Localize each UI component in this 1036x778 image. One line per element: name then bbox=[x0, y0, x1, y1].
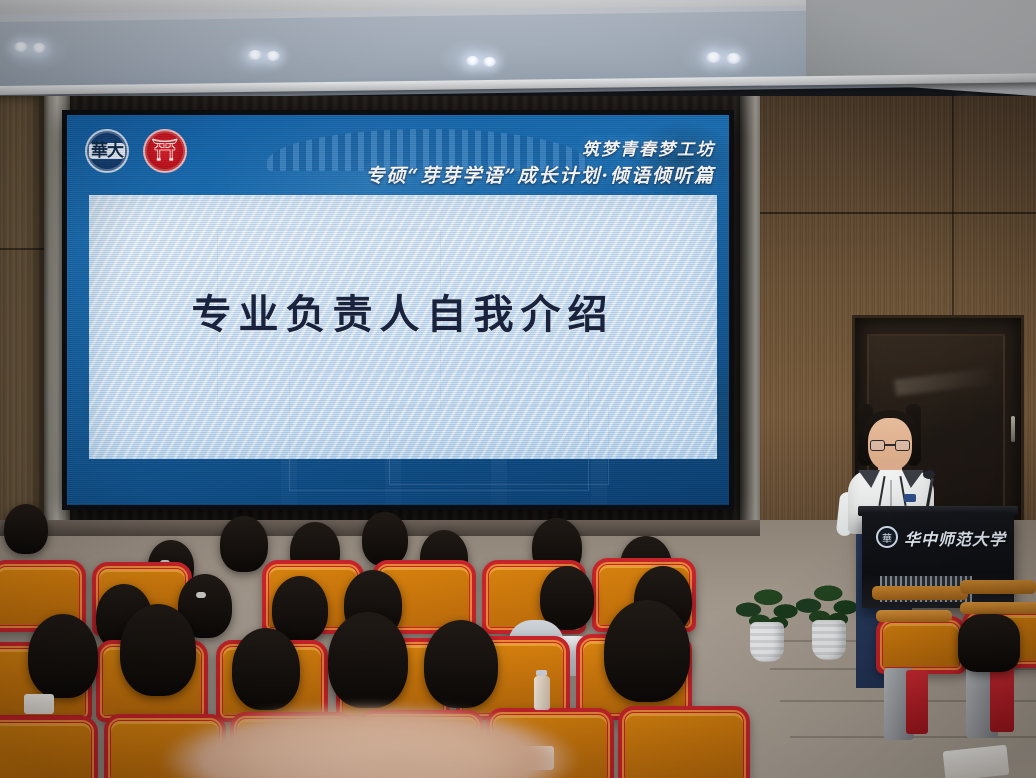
audience-head bbox=[28, 614, 98, 698]
audience-head bbox=[540, 566, 594, 630]
hair-clip bbox=[196, 592, 206, 598]
seat-side-panel bbox=[906, 670, 928, 734]
slide-content-panel: 专业负责人自我介绍 bbox=[89, 195, 717, 459]
wood-panel-seam bbox=[952, 96, 954, 316]
glasses-bridge bbox=[885, 444, 895, 446]
red-logo-glyph: ⛩ bbox=[151, 140, 179, 162]
auditorium-seat[interactable] bbox=[876, 616, 966, 674]
tissue-pack bbox=[943, 745, 1010, 778]
audience-head bbox=[604, 600, 690, 702]
water-bottle[interactable] bbox=[534, 676, 550, 710]
ceiling-spotlight-pair-4b bbox=[726, 53, 741, 64]
seat-armrest bbox=[960, 580, 1036, 594]
auditorium-scene: 華大 ⛩ 筑梦青春梦工坊 专硕“芽芽学语”成长计划·倾语倾听篇 专业负责人自我介… bbox=[0, 0, 1036, 778]
podium-institution-label: 华中师范大学 bbox=[904, 526, 1012, 550]
podium-university-logo-icon: 華 bbox=[876, 526, 898, 548]
shirt-emblem bbox=[904, 494, 916, 502]
slide-title: 专业负责人自我介绍 bbox=[89, 282, 717, 340]
ceiling-spotlight-pair-4a bbox=[706, 52, 721, 63]
seat-side-panel bbox=[990, 664, 1014, 732]
audience-head bbox=[232, 628, 300, 710]
plant-pot-2 bbox=[812, 620, 846, 660]
ceiling-spotlight-pair-2a bbox=[248, 50, 262, 60]
screen-display: 華大 ⛩ 筑梦青春梦工坊 专硕“芽芽学语”成长计划·倾语倾听篇 专业负责人自我介… bbox=[67, 115, 729, 505]
audience-head bbox=[4, 504, 48, 554]
audience-head bbox=[120, 604, 196, 696]
audience-head bbox=[328, 612, 408, 708]
wood-panel-seam bbox=[760, 212, 1036, 214]
seat-armrest bbox=[872, 586, 968, 600]
audience-head bbox=[424, 620, 498, 708]
ceiling-spotlight-pair-3b bbox=[483, 57, 496, 67]
speaker-glasses-icon bbox=[870, 440, 910, 451]
ceiling-spotlight-pair-1a bbox=[14, 42, 28, 52]
lanyard-left bbox=[878, 476, 885, 506]
seat-armrest bbox=[960, 602, 1036, 614]
auditorium-seat[interactable] bbox=[618, 706, 750, 778]
glasses-lens-right bbox=[895, 440, 910, 451]
seat-armrest bbox=[876, 610, 952, 622]
auditorium-seat[interactable] bbox=[0, 716, 98, 778]
bottle-cap bbox=[536, 670, 547, 676]
hust-logo-glyph: 華大 bbox=[89, 143, 125, 159]
panel-watermark-shape bbox=[389, 405, 609, 485]
slide-header-line-2: 专硕“芽芽学语”成长计划·倾语倾听篇 bbox=[366, 161, 715, 188]
foreground-blurred-arm bbox=[250, 742, 550, 778]
audience-head bbox=[958, 614, 1020, 672]
audience-head bbox=[362, 512, 408, 566]
plant-pot-1 bbox=[750, 622, 784, 662]
polo-collar-left bbox=[858, 470, 880, 488]
door-handle[interactable] bbox=[1011, 416, 1015, 442]
ceiling-spotlight-pair-3a bbox=[466, 56, 479, 66]
red-institute-logo-icon: ⛩ bbox=[143, 129, 187, 173]
glasses-lens-left bbox=[870, 440, 885, 451]
hust-university-logo-icon: 華大 bbox=[85, 129, 129, 173]
slide-header-line-1: 筑梦青春梦工坊 bbox=[582, 135, 715, 160]
ceiling-spotlight-pair-2b bbox=[266, 51, 280, 61]
polo-collar-right bbox=[902, 470, 924, 488]
podium-logo-glyph: 華 bbox=[882, 530, 892, 545]
ceiling-spotlight-pair-1b bbox=[32, 43, 46, 53]
led-screen[interactable]: 華大 ⛩ 筑梦青春梦工坊 专硕“芽芽学语”成长计划·倾语倾听篇 专业负责人自我介… bbox=[62, 110, 734, 510]
paper-sheet bbox=[24, 694, 54, 714]
left-wood-panel bbox=[0, 96, 44, 546]
polo-placket bbox=[890, 480, 892, 506]
audience-head bbox=[220, 516, 268, 572]
